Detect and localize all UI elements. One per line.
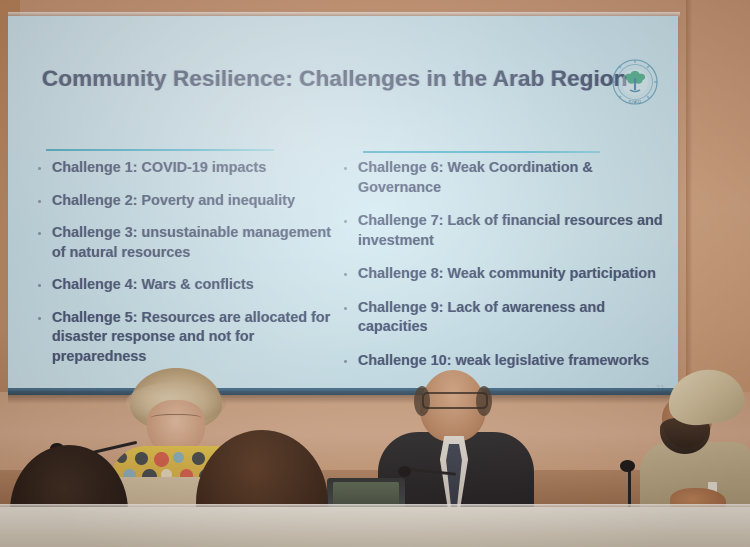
bullet-text: Challenge 7: Lack of financial resources…: [358, 213, 663, 249]
conference-room-photo: Community Resilience: Challenges in the …: [0, 0, 750, 547]
glasses-icon: [150, 414, 202, 425]
bullet-column-left: Challenge 1: COVID-19 impacts Challenge …: [30, 159, 340, 380]
presentation-slide: Community Resilience: Challenges in the …: [8, 16, 678, 391]
list-item: Challenge 4: Wars & conflicts: [30, 276, 340, 296]
glasses-icon: [422, 392, 488, 409]
list-item: Challenge 8: Weak community participatio…: [336, 265, 676, 285]
bullet-text: Challenge 8: Weak community participatio…: [358, 266, 656, 282]
list-item: Challenge 7: Lack of financial resources…: [336, 212, 676, 251]
bullet-text: Challenge 4: Wars & conflicts: [52, 277, 254, 293]
turban: [665, 365, 748, 429]
bullet-dot-icon: [38, 200, 41, 203]
logo-caption: RAED: [609, 99, 661, 104]
bullet-dot-icon: [38, 317, 41, 320]
projection-screen: Community Resilience: Challenges in the …: [8, 16, 678, 391]
wall-seam: [686, 0, 692, 400]
bullet-text: Challenge 5: Resources are allocated for…: [52, 310, 330, 365]
bullet-dot-icon: [344, 307, 347, 310]
bullet-dot-icon: [344, 167, 347, 170]
divider-left: [46, 149, 274, 151]
bullet-column-right: Challenge 6: Weak Coordination & Governa…: [336, 159, 676, 385]
divider-right: [363, 151, 600, 153]
bullet-text: Challenge 6: Weak Coordination & Governa…: [358, 160, 593, 196]
bullet-dot-icon: [38, 232, 41, 235]
microphone-center-icon: [398, 466, 411, 477]
slide-title: Community Resilience: Challenges in the …: [42, 66, 582, 92]
bullet-text: Challenge 3: unsustainable management of…: [52, 225, 331, 261]
bullet-text: Challenge 1: COVID-19 impacts: [52, 160, 266, 176]
microphone-right-icon: [620, 460, 635, 472]
bullet-dot-icon: [344, 273, 347, 276]
list-item: Challenge 5: Resources are allocated for…: [30, 309, 340, 368]
list-item: Challenge 1: COVID-19 impacts: [30, 159, 340, 179]
panel-table: [0, 507, 750, 547]
list-item: Challenge 6: Weak Coordination & Governa…: [336, 159, 676, 198]
list-item: Challenge 3: unsustainable management of…: [30, 224, 340, 263]
bullet-dot-icon: [344, 220, 347, 223]
bullet-dot-icon: [38, 167, 41, 170]
bullet-text: Challenge 2: Poverty and inequality: [52, 193, 295, 209]
list-item: Challenge 9: Lack of awareness and capac…: [336, 299, 676, 338]
bullet-text: Challenge 9: Lack of awareness and capac…: [358, 300, 605, 336]
list-item: Challenge 2: Poverty and inequality: [30, 192, 340, 212]
bullet-dot-icon: [38, 284, 41, 287]
